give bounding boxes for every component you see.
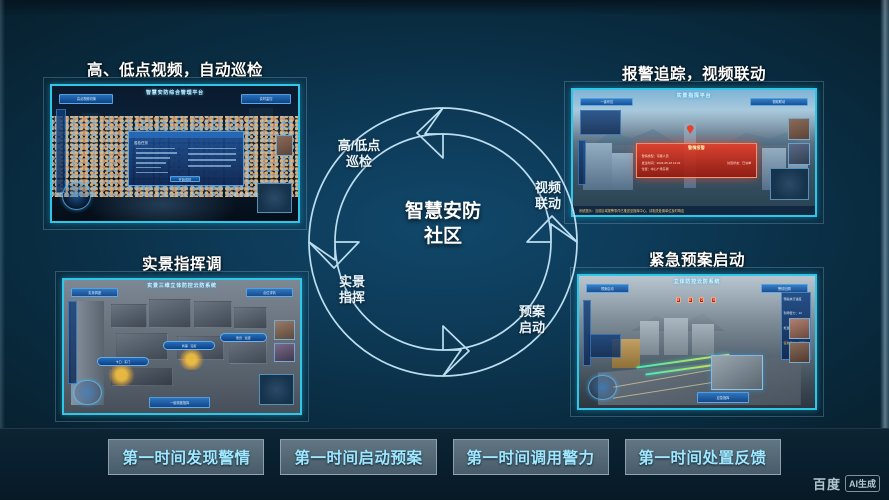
building-cluster	[664, 318, 688, 355]
rooftop	[229, 339, 267, 364]
panel-bottom-right: 紧急预案启动 立体防控云防系统 预案启动 警情回溯 8	[577, 248, 817, 410]
rooftop	[111, 304, 146, 328]
dialog-start-button[interactable]: 开始巡检	[170, 176, 200, 182]
minimap[interactable]	[257, 183, 291, 213]
face-thumbnail[interactable]	[276, 135, 293, 157]
cycle-center-label: 智慧安防 社区	[293, 200, 593, 249]
panel-top-right: 报警追踪，视频联动 实景指挥平台 一键布控 视频联动	[571, 62, 817, 217]
sidebar-item-1: 到场警力：12	[784, 311, 802, 315]
counter-0: 8	[676, 297, 681, 303]
alarm-row-3: 处置状态：已派单	[727, 161, 751, 165]
map-tag-1[interactable]: 商铺 · 沿街	[163, 341, 215, 350]
minimap[interactable]	[259, 374, 294, 405]
slide-canvas: 高、低点视频，自动巡检 智慧安防综合管理平台 高点视频切换 实时监控 巡检任务	[0, 0, 889, 500]
panel-bottom-left-screen[interactable]: 实景三维立体防控云防系统 实景调度 点位详情 卡口 · 东门 商铺 · 沿街 警…	[62, 278, 302, 415]
dialog-row	[188, 153, 236, 155]
rooftop	[194, 301, 232, 328]
cycle-label-bottom: 预案 启动	[495, 304, 569, 337]
sidebar-item-0: 预案执行进度	[784, 297, 802, 301]
screen-header-text: 实景三维立体防控云防系统	[147, 282, 217, 289]
rooftop	[149, 299, 191, 328]
overlay-note: 学者工作站视频点位	[230, 192, 259, 197]
radar-control[interactable]	[73, 380, 101, 405]
chip-0[interactable]: 实景调度	[71, 288, 118, 297]
panel-top-left-screen-wrap: 智慧安防综合管理平台 高点视频切换 实时监控 巡检任务	[50, 84, 300, 223]
dialog-row	[188, 159, 236, 161]
face-thumbnail[interactable]	[789, 342, 810, 363]
dialog-row	[188, 148, 236, 150]
counter-1: 6	[688, 297, 693, 303]
watermark-brand: 百度	[813, 474, 841, 493]
minimap[interactable]	[770, 168, 809, 201]
highlight-halo	[177, 349, 205, 370]
alarm-row-1: 发生时间：2023-05-18 14:22	[642, 161, 681, 165]
cycle-diagram: 高/低点 巡检 视频 联动 预案 启动 实景 指挥 智慧安防 社区	[293, 92, 593, 392]
map-tag-0[interactable]: 卡口 · 东门	[97, 357, 149, 366]
face-thumbnail[interactable]	[788, 118, 810, 141]
dialog-title: 巡检任务	[134, 141, 148, 146]
rooftop	[116, 333, 168, 360]
alert-ticker: 系统提示：当前区域报警事件已推送至指挥中心，请相关处置单位及时响应	[573, 206, 815, 215]
counter-3: 4	[711, 297, 716, 303]
left-edge-decoration	[0, 0, 5, 430]
dialog-row	[188, 165, 231, 167]
cycle-label-left: 实景 指挥	[315, 274, 389, 307]
dialog-title-bar	[129, 132, 243, 139]
left-rail	[68, 301, 77, 383]
alarm-row-2: 位置：中心广场东侧	[642, 167, 669, 171]
banner-item-1[interactable]: 第一时间启动预案	[280, 439, 436, 475]
cycle-arrow-bottom-left	[309, 242, 469, 376]
cycle-label-top: 高/低点 巡检	[311, 138, 407, 171]
panel-bottom-left: 实景指挥调 实景三维立体防控云防系统 实景调度 点位详情	[62, 252, 302, 415]
counter-2: 2	[699, 297, 704, 303]
banner-item-0[interactable]: 第一时间发现警情	[108, 439, 264, 475]
chip-1[interactable]: 点位详情	[246, 288, 293, 297]
chip-1[interactable]: 视频联动	[750, 98, 808, 107]
chip-0[interactable]: 高点视频切换	[59, 94, 113, 103]
dialog-row	[136, 148, 175, 150]
building-cluster	[692, 324, 713, 356]
dialog-row	[136, 172, 168, 174]
video-feed[interactable]	[711, 355, 763, 389]
face-thumbnail[interactable]	[788, 143, 810, 166]
stat-panel	[588, 334, 621, 358]
building-cluster	[612, 153, 634, 191]
watermark: 百度 AI生成	[813, 474, 880, 493]
face-thumbnail[interactable]	[789, 318, 810, 339]
alarm-popup[interactable]: 警情报警 警情类型：可疑人员 发生时间：2023-05-18 14:22 位置：…	[636, 143, 757, 178]
bottom-banner: 第一时间发现警情 第一时间启动预案 第一时间调用警力 第一时间处置反馈	[0, 428, 889, 500]
panel-bottom-left-screen-wrap: 实景三维立体防控云防系统 实景调度 点位详情 卡口 · 东门 商铺 · 沿街 警…	[62, 278, 302, 415]
dialog-row	[136, 167, 161, 169]
watermark-badge: AI生成	[845, 475, 880, 492]
screen-header-text: 智慧安防综合管理平台	[146, 89, 204, 96]
screen-header-text: 立体防控云防系统	[674, 278, 720, 285]
map-tag-2[interactable]: 警员 · 巡逻	[220, 333, 267, 342]
dialog-row	[136, 152, 177, 154]
inspection-dialog[interactable]: 巡检任务 开始巡检	[128, 131, 244, 186]
chip-1[interactable]: 实时监控	[241, 94, 290, 103]
screen-header-text: 实景指挥平台	[677, 92, 712, 99]
left-rail	[56, 109, 66, 193]
banner-item-3[interactable]: 第一时间处置反馈	[625, 439, 781, 475]
rooftop	[234, 307, 267, 330]
building-cluster	[640, 321, 659, 355]
panel-top-right-screen-wrap: 实景指挥平台 一键布控 视频联动 警情报警 警情类型：可疑人员 发生时间：202…	[571, 88, 817, 217]
panel-top-right-screen[interactable]: 实景指挥平台 一键布控 视频联动 警情报警 警情类型：可疑人员 发生时间：202…	[571, 88, 817, 217]
banner-item-2[interactable]: 第一时间调用警力	[453, 439, 609, 475]
panel-top-left-screen[interactable]: 智慧安防综合管理平台 高点视频切换 实时监控 巡检任务	[50, 84, 300, 223]
dialog-row	[136, 157, 170, 159]
panel-bottom-right-screen[interactable]: 立体防控云防系统 预案启动 警情回溯 8 6 2 4 预案执行进度 到场警力：1…	[577, 274, 817, 410]
panel-top-left: 高、低点视频，自动巡检 智慧安防综合管理平台 高点视频切换 实时监控 巡检任务	[50, 58, 300, 223]
command-button[interactable]: 应急指挥	[697, 392, 749, 403]
dispatch-button[interactable]: 一键调度指挥	[149, 397, 210, 408]
panel-bottom-right-screen-wrap: 立体防控云防系统 预案启动 警情回溯 8 6 2 4 预案执行进度 到场警力：1…	[577, 274, 817, 410]
dialog-row	[136, 162, 166, 164]
alarm-row-0: 警情类型：可疑人员	[642, 154, 669, 158]
alarm-title: 警情报警	[637, 145, 756, 151]
right-edge-decoration	[880, 0, 889, 430]
